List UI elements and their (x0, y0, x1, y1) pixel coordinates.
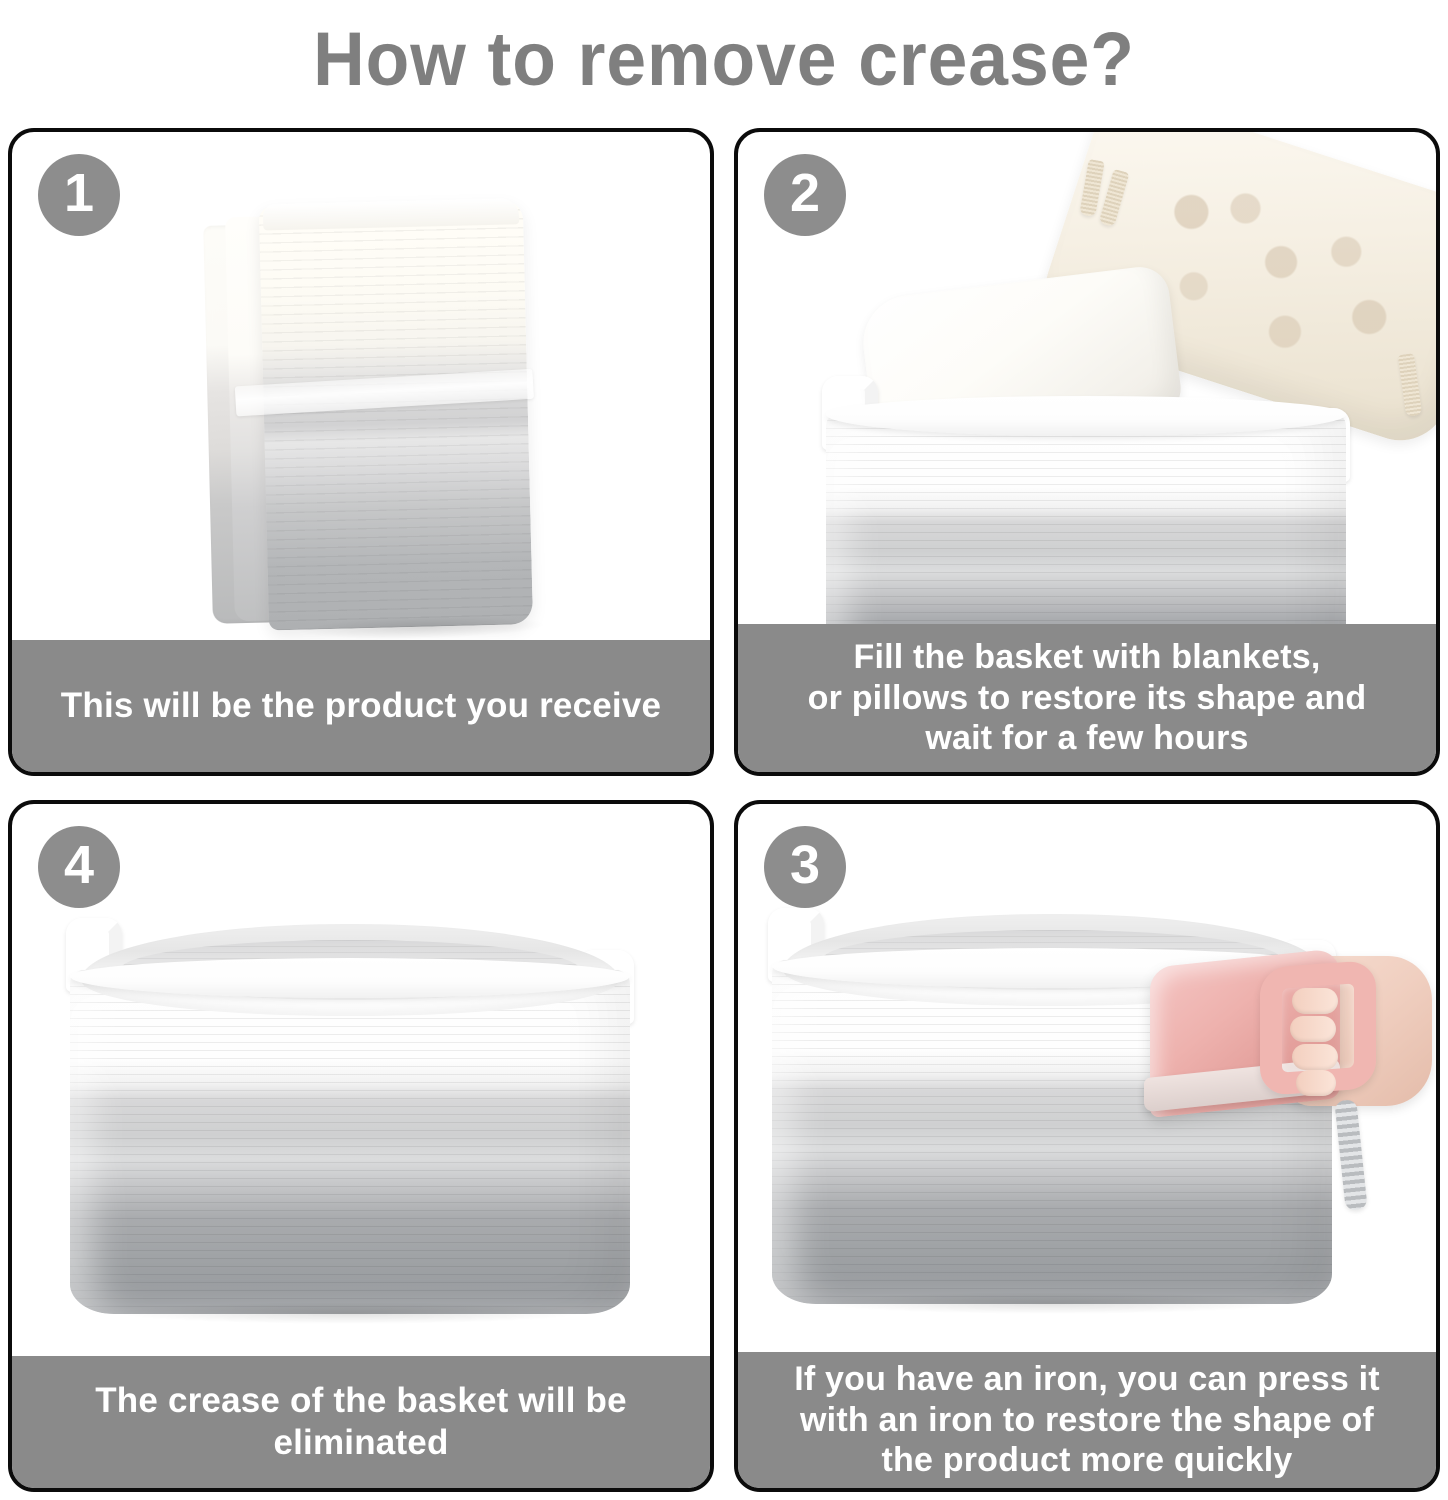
finger (1296, 1070, 1336, 1096)
basket-body (826, 412, 1346, 624)
rope-basket (826, 372, 1346, 624)
step-number-badge-1: 1 (38, 154, 120, 236)
page-title: How to remove crease? (43, 0, 1404, 118)
panel-3-caption: If you have an iron, you can press it wi… (738, 1352, 1436, 1488)
instruction-panel-grid: 1 This will be the product you receive 2 (8, 128, 1440, 1492)
finger (1292, 988, 1338, 1014)
step-number-badge-2: 2 (764, 154, 846, 236)
ironing-basket-illustration (738, 804, 1436, 1352)
finger (1292, 1044, 1338, 1070)
drop-shadow (115, 1302, 585, 1324)
instruction-panel-4: 4 The crease of the basket will be elimi… (8, 800, 714, 1492)
panel-4-caption: The crease of the basket will be elimina… (12, 1356, 710, 1488)
panel-2-image: 2 (738, 132, 1436, 624)
panel-2-caption: Fill the basket with blankets, or pillow… (738, 624, 1436, 772)
instruction-panel-2: 2 Fill the basket with blankets (734, 128, 1440, 776)
garment-steamer-iron (1140, 950, 1436, 1200)
panel-3-image: 3 (738, 804, 1436, 1352)
panel-1-caption: This will be the product you receive (12, 640, 710, 772)
panel-1-image: 1 (12, 132, 710, 640)
instruction-panel-3: 3 (734, 800, 1440, 1492)
empty-basket-illustration (12, 804, 710, 1356)
rope-basket (70, 914, 630, 1314)
folded-basket-front-layer (259, 200, 533, 630)
step-number-badge-4: 4 (38, 826, 120, 908)
basket-body (70, 970, 630, 1314)
step-number-badge-3: 3 (764, 826, 846, 908)
drop-shadow (817, 1292, 1287, 1314)
power-cord (1334, 1099, 1367, 1211)
panel-4-image: 4 (12, 804, 710, 1356)
instruction-panel-1: 1 This will be the product you receive (8, 128, 714, 776)
finger (1290, 1016, 1336, 1042)
